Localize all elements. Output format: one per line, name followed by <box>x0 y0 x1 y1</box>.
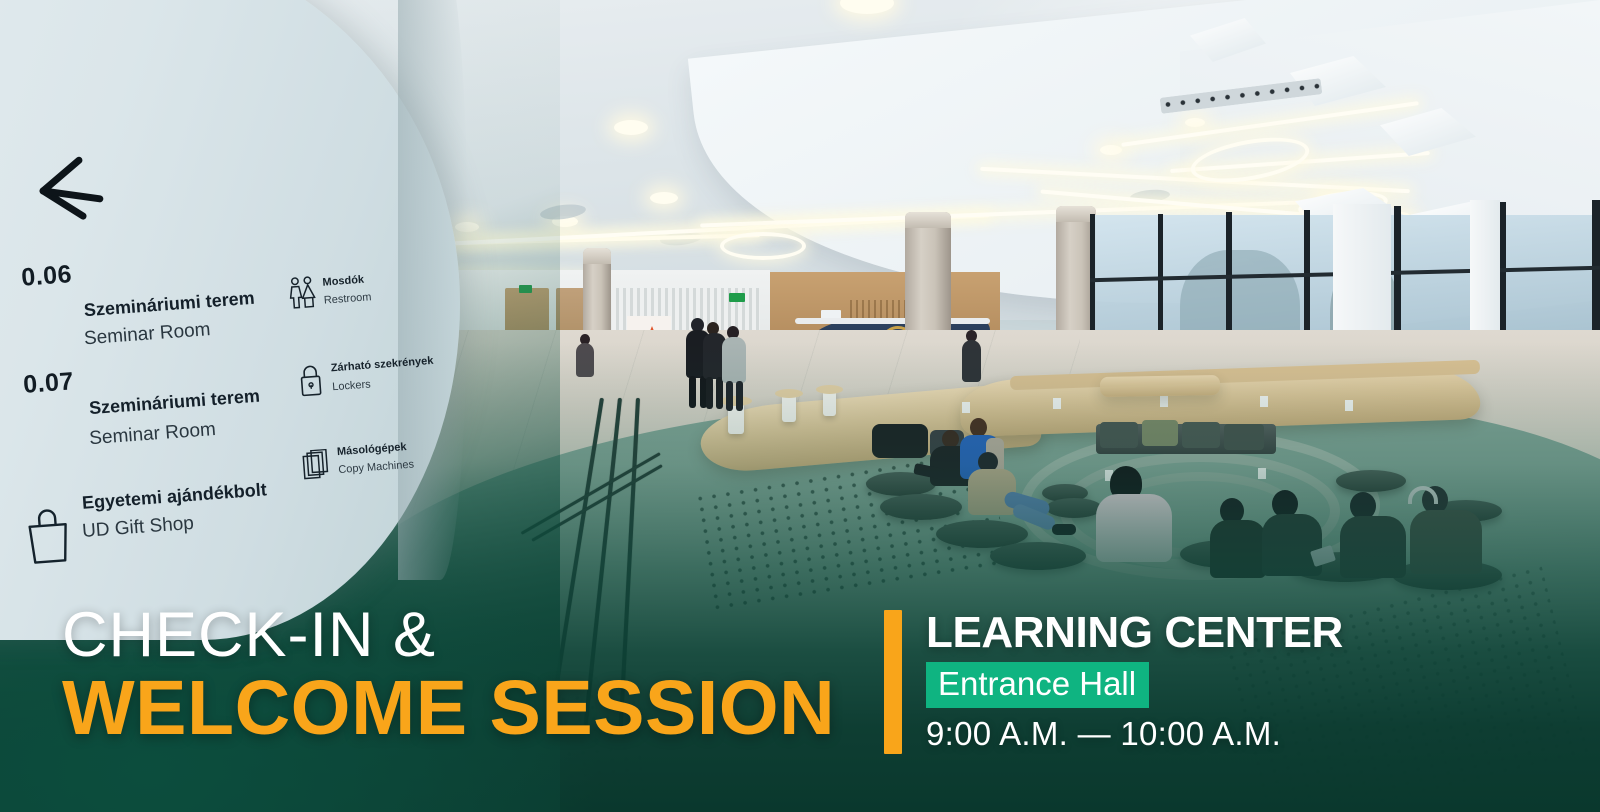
event-details-text: LEARNING CENTER Entrance Hall 9:00 A.M. … <box>926 610 1343 754</box>
room-name-en-0-06: Seminar Room <box>83 319 211 350</box>
wayfinding-sign: 0.06 Szemináriumi terem Seminar Room 0.0… <box>0 119 452 599</box>
venue-name: LEARNING CENTER <box>926 610 1343 656</box>
headline-line-1: CHECK-IN & <box>62 603 835 669</box>
lock-icon <box>297 363 326 404</box>
amenity-hu-restroom: Mosdók <box>322 274 364 289</box>
copy-machine-icon <box>301 449 332 490</box>
event-details: LEARNING CENTER Entrance Hall 9:00 A.M. … <box>884 610 1343 754</box>
room-name-hu-0-06: Szemináriumi terem <box>83 288 255 321</box>
headline-line-2: WELCOME SESSION <box>62 668 835 750</box>
room-number-0-07: 0.07 <box>22 367 75 400</box>
amenity-hu-copy: Másológépek <box>337 441 407 458</box>
amenity-en-copy: Copy Machines <box>338 459 415 477</box>
amenity-en-restroom: Restroom <box>323 291 371 306</box>
shop-name-hu: Egyetemi ajándékbolt <box>81 479 267 513</box>
room-name-en-0-07: Seminar Room <box>89 419 217 450</box>
room-badge: Entrance Hall <box>926 662 1149 709</box>
event-time: 9:00 A.M. — 10:00 A.M. <box>926 714 1343 754</box>
accent-bar <box>884 610 902 754</box>
shopping-bag-icon <box>20 506 76 573</box>
restroom-icon <box>288 275 317 316</box>
amenity-en-lockers: Lockers <box>332 378 371 393</box>
amenity-hu-lockers: Zárható szekrények <box>330 355 433 374</box>
arrow-left-icon <box>35 152 118 233</box>
reception-desk-top <box>795 318 990 324</box>
downlight <box>614 120 648 135</box>
room-number-0-06: 0.06 <box>20 260 73 293</box>
room-name-hu-0-07: Szemináriumi terem <box>88 386 260 419</box>
downlight <box>1185 118 1205 127</box>
shop-name-en: UD Gift Shop <box>81 513 194 543</box>
event-headline: CHECK-IN & WELCOME SESSION <box>62 603 835 750</box>
downlight <box>650 192 678 204</box>
downlight <box>1100 145 1122 155</box>
event-banner: LC <box>0 0 1600 812</box>
